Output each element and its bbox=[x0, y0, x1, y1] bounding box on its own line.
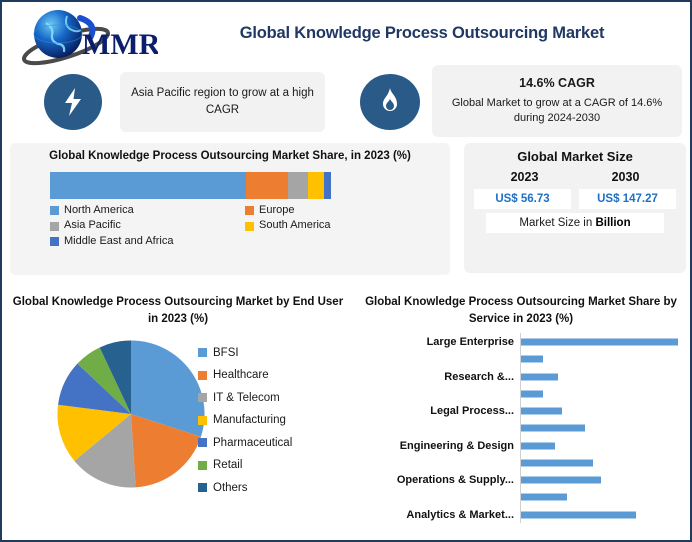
legend-label: Europe bbox=[259, 204, 294, 218]
legend-item: Others bbox=[198, 476, 292, 499]
bar-track bbox=[520, 454, 690, 471]
pie-chart bbox=[56, 339, 206, 489]
legend-item: North America bbox=[50, 204, 245, 218]
legend-swatch-icon bbox=[198, 483, 207, 492]
bar-row bbox=[352, 385, 690, 402]
legend-label: North America bbox=[64, 204, 134, 218]
lightning-badge bbox=[44, 74, 102, 130]
bar-track bbox=[520, 368, 690, 385]
legend-item: Healthcare bbox=[198, 364, 292, 387]
bar-track bbox=[520, 437, 690, 454]
legend-swatch-icon bbox=[198, 438, 207, 447]
legend-item: Retail bbox=[198, 454, 292, 477]
market-size-unit-value: Billion bbox=[595, 217, 630, 229]
legend-swatch-icon bbox=[198, 461, 207, 470]
bar-track bbox=[520, 506, 690, 523]
end-user-legend: BFSIHealthcareIT & TelecomManufacturingP… bbox=[198, 341, 292, 499]
bar-fill bbox=[521, 356, 543, 363]
bar-row: Research &... bbox=[352, 368, 690, 385]
legend-label: Asia Pacific bbox=[64, 219, 121, 233]
bar-fill bbox=[521, 511, 636, 518]
svg-text:MMR: MMR bbox=[82, 28, 158, 61]
bar-axis-label: Large Enterprise bbox=[352, 336, 520, 348]
service-share-title: Global Knowledge Process Outsourcing Mar… bbox=[352, 288, 690, 327]
legend-swatch-icon bbox=[50, 237, 59, 246]
legend-swatch-icon bbox=[50, 206, 59, 215]
bar-row bbox=[352, 351, 690, 368]
header: MMR Global Knowledge Process Outsourcing… bbox=[2, 2, 690, 138]
bar-row: Operations & Supply... bbox=[352, 471, 690, 488]
service-bar-chart: Large EnterpriseResearch &...Legal Proce… bbox=[352, 333, 690, 523]
legend-swatch-icon bbox=[198, 416, 207, 425]
service-share-panel: Global Knowledge Process Outsourcing Mar… bbox=[352, 288, 690, 538]
bar-track bbox=[520, 471, 690, 488]
market-size-year-2023: 2023 bbox=[511, 170, 539, 184]
stacked-segment bbox=[246, 172, 288, 199]
regional-share-panel: Global Knowledge Process Outsourcing Mar… bbox=[10, 143, 450, 275]
stacked-segment bbox=[324, 172, 331, 199]
bar-fill bbox=[521, 338, 678, 345]
bar-fill bbox=[521, 373, 558, 380]
legend-swatch-icon bbox=[198, 393, 207, 402]
market-size-years: 2023 2030 bbox=[474, 170, 676, 184]
bar-fill bbox=[521, 459, 593, 466]
end-user-title: Global Knowledge Process Outsourcing Mar… bbox=[8, 288, 348, 327]
stacked-segment bbox=[308, 172, 324, 199]
legend-label: South America bbox=[259, 219, 331, 233]
stacked-bar-chart bbox=[50, 172, 331, 199]
market-size-unit: Market Size in Billion bbox=[486, 213, 664, 233]
bar-track bbox=[520, 489, 690, 506]
legend-swatch-icon bbox=[198, 348, 207, 357]
market-size-value-2023: US$ 56.73 bbox=[474, 189, 571, 209]
row-regional-and-size: Global Knowledge Process Outsourcing Mar… bbox=[2, 139, 692, 285]
lightning-bolt-icon bbox=[60, 87, 86, 117]
bar-row bbox=[352, 454, 690, 471]
cagr-heading: 14.6% CAGR bbox=[519, 75, 595, 93]
market-size-value-2030: US$ 147.27 bbox=[579, 189, 676, 209]
callout-cagr: 14.6% CAGR Global Market to grow at a CA… bbox=[432, 65, 682, 137]
bar-row: Large Enterprise bbox=[352, 333, 690, 350]
end-user-chart-area: BFSIHealthcareIT & TelecomManufacturingP… bbox=[8, 335, 348, 535]
legend-item: BFSI bbox=[198, 341, 292, 364]
bar-track bbox=[520, 333, 690, 350]
legend-item: Pharmaceutical bbox=[198, 431, 292, 454]
row-pie-and-service: Global Knowledge Process Outsourcing Mar… bbox=[2, 288, 692, 542]
bar-fill bbox=[521, 494, 567, 501]
market-size-title: Global Market Size bbox=[474, 149, 676, 164]
legend-item: South America bbox=[245, 219, 440, 233]
flame-icon bbox=[378, 87, 402, 117]
legend-item: Europe bbox=[245, 204, 440, 218]
bar-fill bbox=[521, 390, 543, 397]
callout-asia-pacific-text: Asia Pacific region to grow at a high CA… bbox=[130, 85, 315, 118]
legend-item: Manufacturing bbox=[198, 409, 292, 432]
bar-axis-label: Research &... bbox=[352, 371, 520, 383]
infographic-root: MMR Global Knowledge Process Outsourcing… bbox=[0, 0, 692, 542]
legend-swatch-icon bbox=[245, 206, 254, 215]
legend-label: Healthcare bbox=[213, 369, 269, 381]
bar-axis-label: Analytics & Market... bbox=[352, 509, 520, 521]
market-size-panel: Global Market Size 2023 2030 US$ 56.73 U… bbox=[464, 143, 686, 273]
cagr-description: Global Market to grow at a CAGR of 14.6%… bbox=[442, 96, 672, 127]
legend-swatch-icon bbox=[198, 371, 207, 380]
bar-track bbox=[520, 420, 690, 437]
legend-swatch-icon bbox=[245, 222, 254, 231]
bar-track bbox=[520, 402, 690, 419]
regional-share-legend: North AmericaEuropeAsia PacificSouth Ame… bbox=[50, 204, 440, 251]
regional-share-title: Global Knowledge Process Outsourcing Mar… bbox=[20, 149, 440, 165]
bar-track bbox=[520, 385, 690, 402]
flame-badge bbox=[360, 74, 420, 130]
stacked-segment bbox=[50, 172, 246, 199]
legend-label: Retail bbox=[213, 459, 242, 471]
legend-label: IT & Telecom bbox=[213, 392, 280, 404]
bar-row: Engineering & Design bbox=[352, 437, 690, 454]
globe-swoosh-icon: MMR bbox=[10, 6, 158, 66]
legend-label: BFSI bbox=[213, 347, 239, 359]
bar-fill bbox=[521, 425, 585, 432]
bar-row bbox=[352, 489, 690, 506]
legend-label: Pharmaceutical bbox=[213, 437, 292, 449]
bar-row: Legal Process... bbox=[352, 402, 690, 419]
bar-axis-label: Engineering & Design bbox=[352, 440, 520, 452]
bar-fill bbox=[521, 442, 555, 449]
callout-asia-pacific: Asia Pacific region to grow at a high CA… bbox=[120, 72, 325, 132]
market-size-year-2030: 2030 bbox=[612, 170, 640, 184]
bar-fill bbox=[521, 477, 601, 484]
bar-track bbox=[520, 351, 690, 368]
mmr-logo: MMR bbox=[10, 6, 158, 66]
legend-swatch-icon bbox=[50, 222, 59, 231]
end-user-panel: Global Knowledge Process Outsourcing Mar… bbox=[8, 288, 348, 538]
stacked-segment bbox=[288, 172, 308, 199]
market-size-values: US$ 56.73 US$ 147.27 bbox=[474, 189, 676, 209]
legend-label: Others bbox=[213, 482, 248, 494]
bar-axis-label: Operations & Supply... bbox=[352, 474, 520, 486]
bar-row: Analytics & Market... bbox=[352, 506, 690, 523]
bar-fill bbox=[521, 408, 562, 415]
legend-item: Middle East and Africa bbox=[50, 235, 245, 249]
market-size-unit-prefix: Market Size in bbox=[519, 217, 595, 229]
page-title: Global Knowledge Process Outsourcing Mar… bbox=[162, 24, 682, 43]
legend-label: Manufacturing bbox=[213, 414, 286, 426]
bar-row bbox=[352, 420, 690, 437]
legend-item: Asia Pacific bbox=[50, 219, 245, 233]
legend-item: IT & Telecom bbox=[198, 386, 292, 409]
bar-axis-label: Legal Process... bbox=[352, 405, 520, 417]
legend-label: Middle East and Africa bbox=[64, 235, 173, 249]
